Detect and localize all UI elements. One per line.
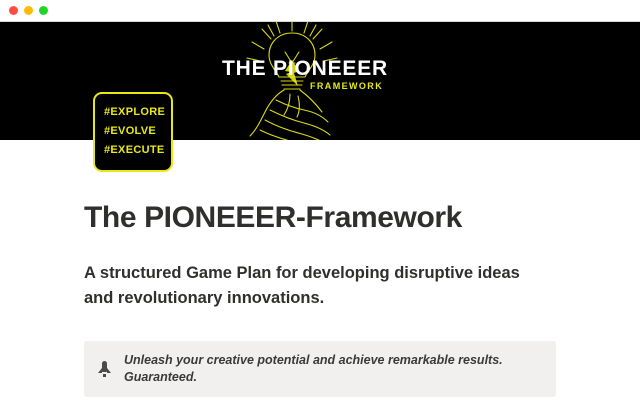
callout-box: Unleash your creative potential and achi… xyxy=(84,341,556,397)
hashtag-item-explore: #EXPLORE xyxy=(104,103,171,122)
window-controls xyxy=(9,6,48,15)
hashtag-badge: #EXPLORE #EVOLVE #EXECUTE xyxy=(93,92,173,172)
hashtag-item-execute: #EXECUTE xyxy=(104,141,171,160)
article-content: The PIONEEER-Framework A structured Game… xyxy=(84,200,556,400)
rocket-icon xyxy=(98,360,111,378)
browser-titlebar xyxy=(0,0,640,22)
hashtag-item-evolve: #EVOLVE xyxy=(104,122,171,141)
page-root: THE PIONEEER FRAMEWORK #EXPLORE #EVOLVE … xyxy=(0,0,640,400)
minimize-dot[interactable] xyxy=(24,6,33,15)
maximize-dot[interactable] xyxy=(39,6,48,15)
logo-sub-text: FRAMEWORK xyxy=(310,82,422,91)
logo-wordmark: THE PIONEEER FRAMEWORK xyxy=(222,58,422,91)
article-lede: A structured Game Plan for developing di… xyxy=(84,261,534,311)
logo-main-text: THE PIONEEER xyxy=(222,58,422,79)
page-title: The PIONEEER-Framework xyxy=(84,200,556,235)
close-dot[interactable] xyxy=(9,6,18,15)
callout-text: Unleash your creative potential and achi… xyxy=(124,352,542,386)
